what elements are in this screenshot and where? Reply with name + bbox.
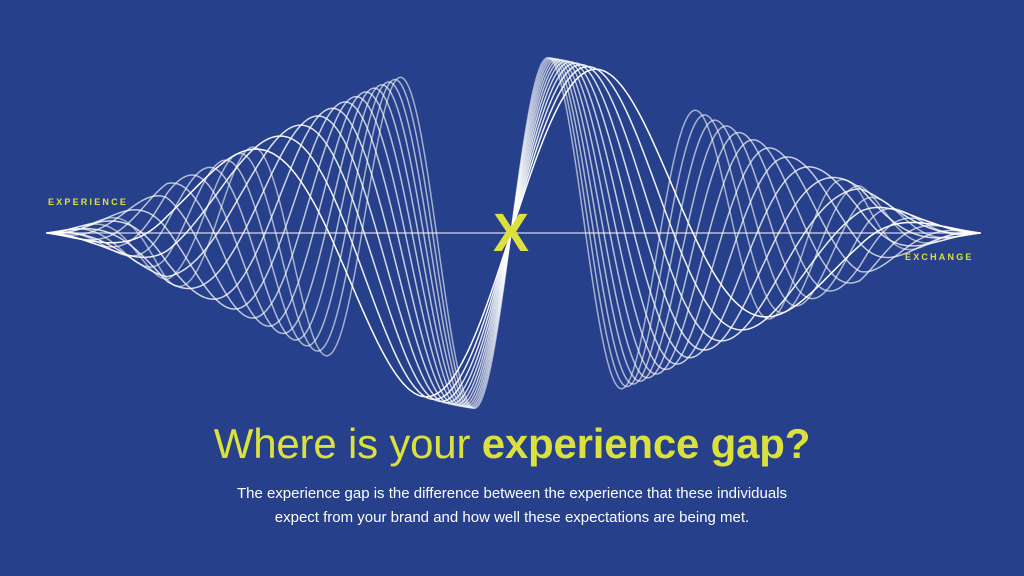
text-block: Where is your experience gap? The experi… bbox=[0, 420, 1024, 529]
axis-label-exchange: EXCHANGE bbox=[905, 252, 974, 262]
experience-gap-node-marker: X bbox=[493, 206, 529, 260]
headline-light-part: Where is your bbox=[214, 420, 482, 467]
subtitle-line-1: The experience gap is the difference bet… bbox=[212, 482, 812, 505]
subtitle: The experience gap is the difference bet… bbox=[212, 482, 812, 529]
subtitle-line-2: expect from your brand and how well thes… bbox=[212, 506, 812, 529]
slide-canvas: EXPERIENCE EXCHANGE X Where is your expe… bbox=[0, 0, 1024, 576]
headline-bold-part: experience gap? bbox=[482, 420, 810, 467]
page-title: Where is your experience gap? bbox=[0, 420, 1024, 468]
axis-label-experience: EXPERIENCE bbox=[48, 197, 128, 207]
